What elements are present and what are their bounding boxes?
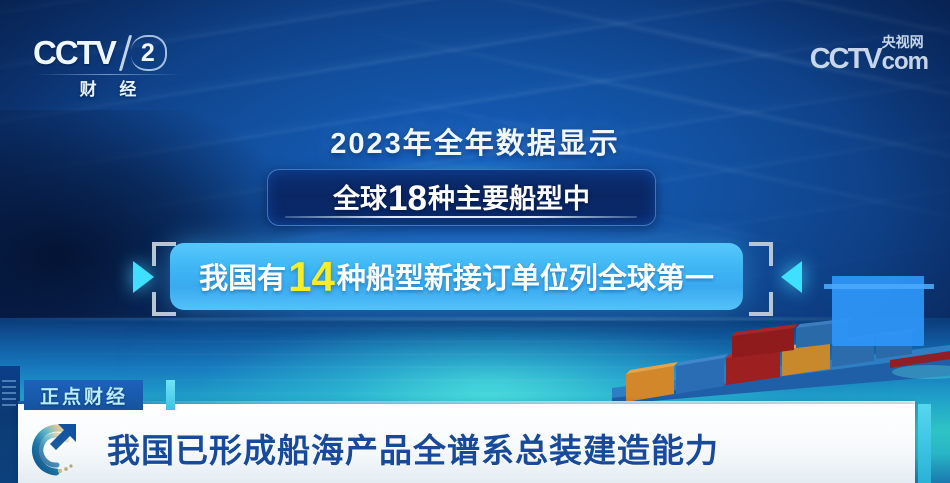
bridge-wing (824, 284, 934, 289)
statistic-box-primary-underline (285, 216, 637, 218)
program-swoosh-arrow-icon (26, 414, 92, 476)
statistic-box-highlight-text: 我国有14种船型新接订单位列全球第一 (199, 253, 714, 301)
cctv2-channel-number: 2 (131, 35, 167, 71)
lower-third-title: 我国已形成船海产品全谱系总装建造能力 (107, 424, 719, 472)
watermark-com-text: com (882, 50, 928, 74)
watermark-cn-text: 央视网 (882, 35, 928, 49)
cctv2-channel-subtitle: 财 经 (33, 75, 183, 100)
swoosh-arrow-svg (26, 414, 92, 476)
cctv2-wordmark: CCTV (33, 34, 115, 72)
lower-third-left-strip (0, 366, 20, 483)
bracket-top-left (152, 242, 176, 266)
statistic-highlight-prefix: 我国有 (199, 263, 286, 295)
watermark-cctv-text: CCTV (810, 44, 881, 74)
bracket-bottom-right (749, 292, 773, 316)
program-tag-box: 正点财经 (24, 380, 143, 410)
statistic-primary-prefix: 全球 (333, 184, 387, 214)
statistic-highlight-number: 14 (286, 253, 337, 300)
cctv2-logo-underline (35, 74, 181, 75)
lower-third-right-accent-bar (918, 404, 931, 483)
arrow-right-triangle-icon (133, 261, 154, 293)
cctv-com-watermark: CCTV 央视网 com (810, 34, 928, 74)
statistic-highlight-suffix: 种船型新接订单位列全球第一 (337, 263, 714, 295)
bracket-bottom-left (152, 292, 176, 316)
broadcast-frame: CCTV 2 财 经 CCTV 央视网 com 2023年全年数据显示 全球18… (0, 0, 950, 483)
program-tag-accent (166, 380, 175, 410)
statistic-primary-suffix: 种主要船型中 (428, 184, 590, 214)
statistic-box-primary-text: 全球18种主要船型中 (333, 177, 590, 219)
swoosh-dots (58, 464, 73, 473)
ship-superstructure (824, 276, 934, 346)
bracket-top-right (749, 242, 773, 266)
cctv2-logo-row: CCTV 2 (33, 34, 183, 72)
watermark-right-group: 央视网 com (882, 35, 928, 74)
statistic-primary-number: 18 (387, 179, 428, 218)
arrow-left-triangle-icon (781, 261, 802, 293)
cctv2-channel-logo: CCTV 2 财 经 (33, 34, 183, 96)
program-tag-label: 正点财经 (40, 382, 128, 409)
statistic-box-highlight: 我国有14种船型新接订单位列全球第一 (170, 243, 743, 310)
headline-kicker: 2023年全年数据显示 (0, 120, 950, 162)
cctv2-divider (117, 36, 135, 70)
